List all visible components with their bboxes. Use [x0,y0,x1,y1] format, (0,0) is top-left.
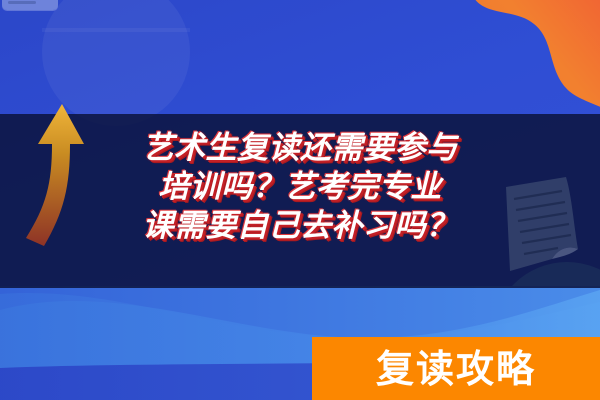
label-banner: 复读攻略 [312,337,600,400]
watermark-chip [2,0,58,10]
headline-block: 艺术生复读还需要参与 培训吗？艺考完专业 课需要自己去补习吗？ [0,128,600,245]
headline-line-2: 培训吗？艺考完专业 [0,167,600,206]
headline-line-1: 艺术生复读还需要参与 [0,128,600,167]
poster-canvas: 艺术生复读还需要参与 培训吗？艺考完专业 课需要自己去补习吗？ 复读攻略 [0,0,600,400]
decorative-circle-band [42,28,190,32]
label-banner-text: 复读攻略 [376,350,536,388]
headline-line-3: 课需要自己去补习吗？ [0,206,600,245]
